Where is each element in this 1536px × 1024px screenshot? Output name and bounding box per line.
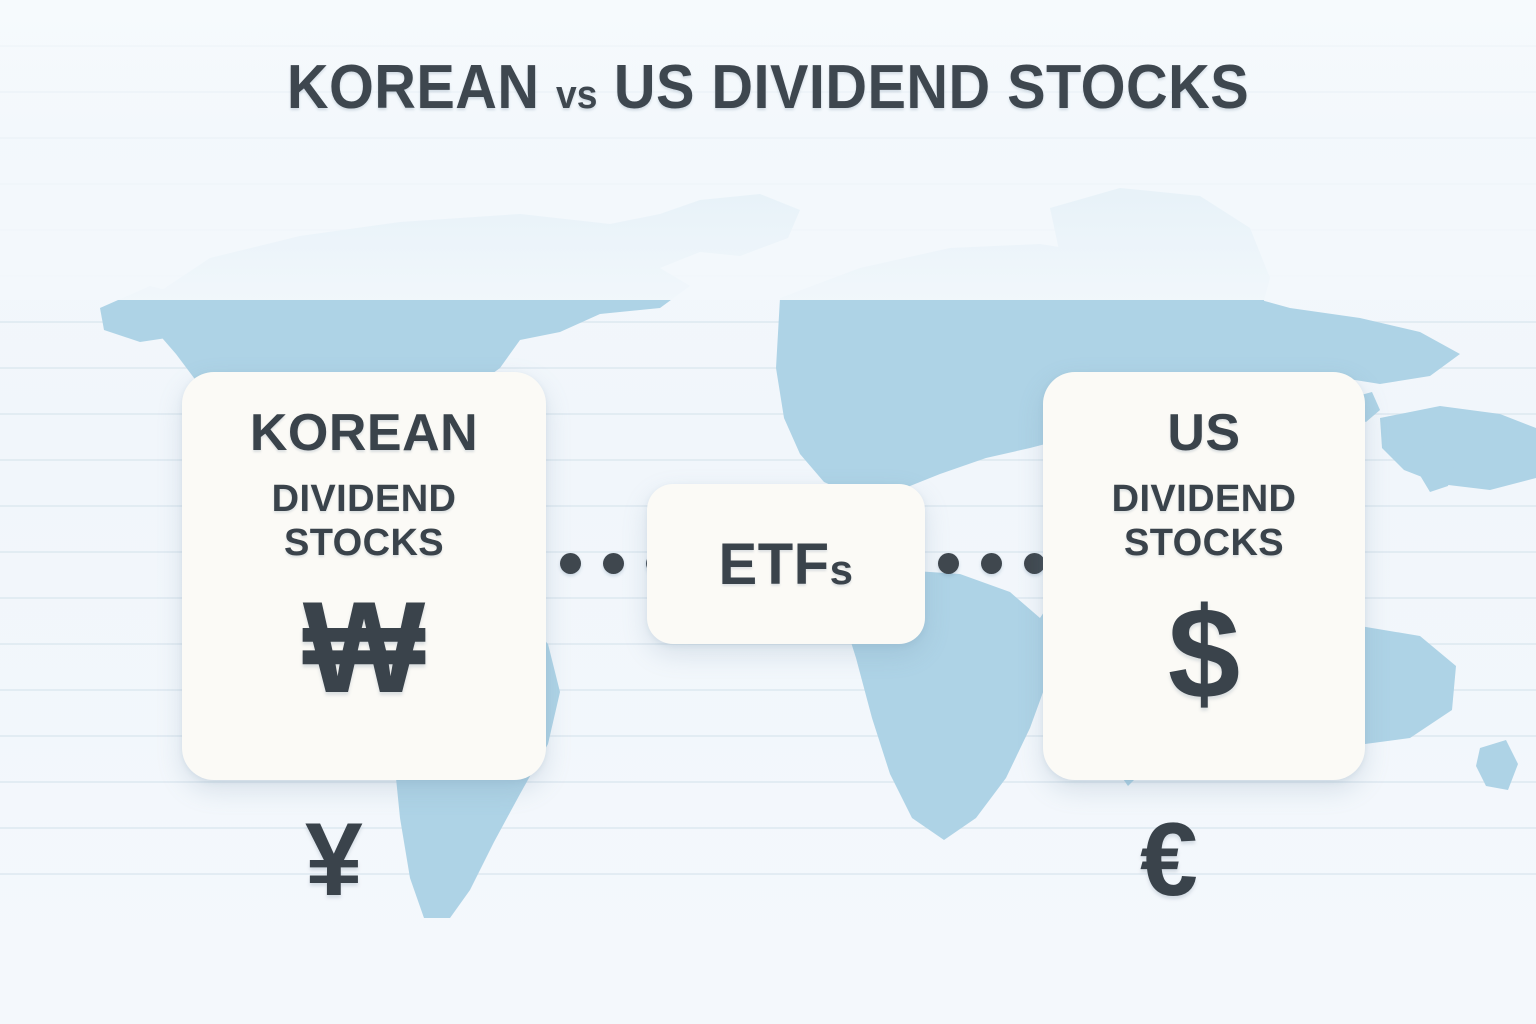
page-title: KOREAN vs US DIVIDEND STOCKS	[54, 52, 1482, 123]
connector-dot	[938, 553, 959, 574]
us-card-subtitle-line1: DIVIDEND	[1112, 477, 1297, 522]
us-card-subtitle: DIVIDEND STOCKS	[1112, 477, 1297, 567]
korean-card-subtitle-line1: DIVIDEND	[272, 477, 457, 522]
us-card-subtitle-line2: STOCKS	[1112, 521, 1297, 566]
infographic-canvas: KOREAN vs US DIVIDEND STOCKS KOREAN DIVI…	[0, 0, 1536, 1024]
won-symbol-icon: ₩	[303, 582, 426, 712]
us-dividend-card[interactable]: US DIVIDEND STOCKS $	[1043, 372, 1365, 780]
title-vs: vs	[556, 73, 597, 117]
etfs-card-label: ETFs	[719, 531, 854, 598]
us-card-country: US	[1167, 406, 1240, 461]
korean-card-subtitle: DIVIDEND STOCKS	[272, 477, 457, 567]
yen-symbol-icon: ¥	[305, 808, 363, 912]
etfs-card[interactable]: ETFs	[647, 484, 925, 644]
connector-dot	[560, 553, 581, 574]
title-part-korean: KOREAN	[287, 53, 540, 122]
korean-dividend-card[interactable]: KOREAN DIVIDEND STOCKS ₩	[182, 372, 546, 780]
map-bottom-fade	[0, 0, 1536, 300]
connector-dot	[603, 553, 624, 574]
etfs-label-main: ETF	[719, 532, 830, 597]
title-part-us: US DIVIDEND STOCKS	[614, 53, 1249, 122]
korean-card-country: KOREAN	[250, 406, 478, 461]
dollar-symbol-icon: $	[1168, 588, 1240, 718]
etfs-label-suffix: s	[830, 546, 854, 593]
korean-card-subtitle-line2: STOCKS	[272, 521, 457, 566]
connector-dot	[981, 553, 1002, 574]
euro-symbol-icon: €	[1140, 808, 1198, 912]
connector-dot	[1024, 553, 1045, 574]
